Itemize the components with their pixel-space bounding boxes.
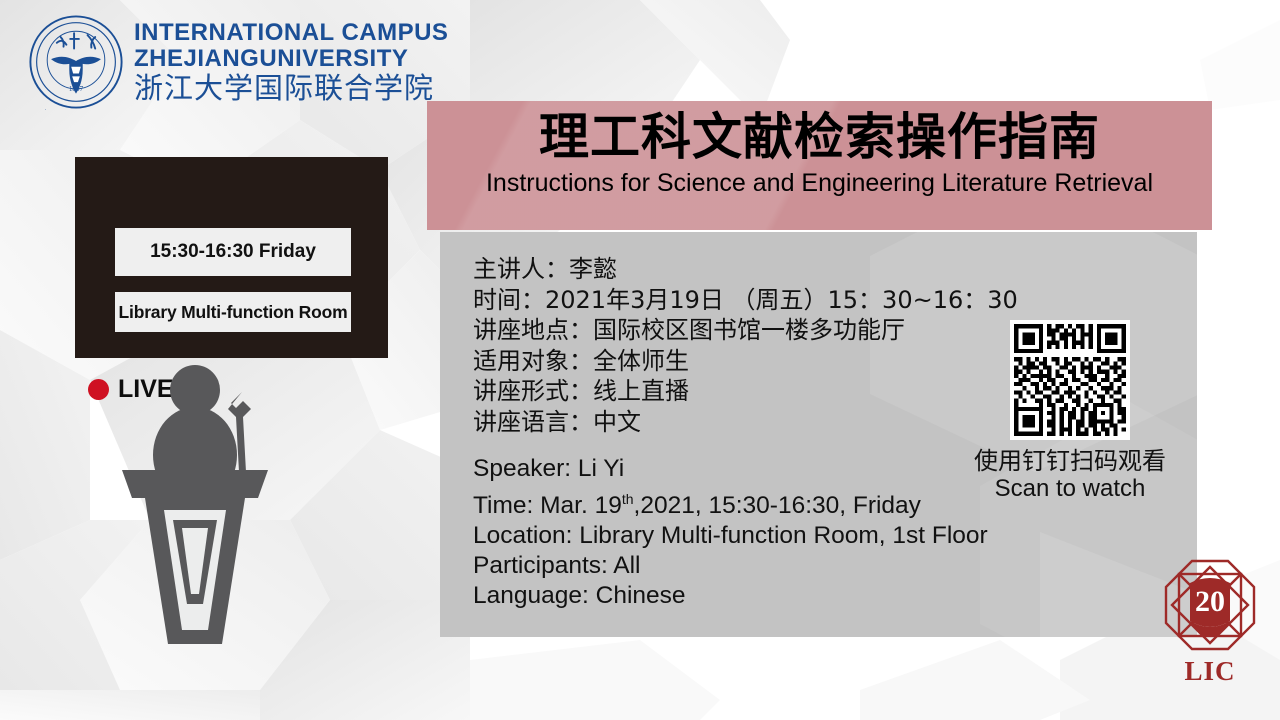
- detail-en-language: Language: Chinese: [473, 581, 988, 611]
- detail-cn-format: 讲座形式：线上直播: [473, 376, 1018, 407]
- room-tag: Library Multi-function Room: [115, 292, 351, 332]
- details-chinese-list: 主讲人：李懿 时间：2021年3月19日 （周五）15：30~16：30 讲座地…: [473, 254, 1018, 437]
- logo-line-zhejiang-university: ZHEJIANG UNIVERSITY: [134, 47, 377, 71]
- detail-cn-language: 讲座语言：中文: [473, 407, 1018, 438]
- logo-wordmark: INTERNATIONAL CAMPUS ZHEJIANG UNIVERSITY…: [134, 21, 448, 103]
- detail-en-time-ordinal: th: [622, 491, 634, 507]
- title-banner: 理工科文献检索操作指南 Instructions for Science and…: [427, 101, 1212, 230]
- qr-caption-english: Scan to watch: [930, 475, 1210, 503]
- title-english: Instructions for Science and Engineering…: [427, 169, 1212, 198]
- details-english-list: Speaker: Li Yi Time: Mar. 19th,2021, 15:…: [473, 454, 988, 611]
- zhejiang-university-seal-icon: 1897 ZHEJIANG UNIVERSITY: [28, 14, 124, 110]
- detail-en-participants: Participants: All: [473, 551, 988, 581]
- qr-caption-chinese: 使用钉钉扫码观看: [930, 447, 1210, 475]
- detail-en-time: Time: Mar. 19th,2021, 15:30-16:30, Frida…: [473, 484, 988, 521]
- detail-en-speaker: Speaker: Li Yi: [473, 454, 988, 484]
- detail-cn-time: 时间：2021年3月19日 （周五）15：30~16：30: [473, 285, 1018, 316]
- detail-en-time-head: Time: Mar. 19: [473, 492, 622, 519]
- logo-line-international-campus: INTERNATIONAL CAMPUS: [134, 21, 448, 45]
- seal-ring-text: ZHEJIANG UNIVERSITY: [39, 109, 113, 110]
- logo-word-zhejiang: ZHEJIANG: [134, 47, 259, 71]
- detail-en-location: Location: Library Multi-function Room, 1…: [473, 521, 988, 551]
- logo-word-university: UNIVERSITY: [259, 47, 408, 71]
- lic-label: LIC: [1155, 656, 1265, 687]
- live-dot-icon: [88, 379, 109, 400]
- lic-anniversary-number: 20: [1195, 585, 1225, 618]
- detail-cn-participants: 适用对象：全体师生: [473, 346, 1018, 377]
- poster-root: 1897 ZHEJIANG UNIVERSITY INTERNATIONAL C…: [0, 0, 1280, 720]
- university-logo-lockup: 1897 ZHEJIANG UNIVERSITY INTERNATIONAL C…: [28, 14, 448, 110]
- logo-line-chinese: 浙江大学国际联合学院: [134, 74, 448, 103]
- qr-caption: 使用钉钉扫码观看 Scan to watch: [930, 447, 1210, 503]
- qr-code-image[interactable]: [1010, 320, 1130, 440]
- detail-en-time-tail: ,2021, 15:30-16:30, Friday: [634, 492, 921, 519]
- qr-code-block[interactable]: [1010, 320, 1130, 440]
- qr-code-svg: [1010, 320, 1130, 440]
- lic-logo: 20 LIC: [1155, 555, 1265, 687]
- seal-year: 1897: [69, 85, 84, 93]
- podium-icon: [110, 362, 310, 662]
- svg-text:ZHEJIANG UNIVERSITY: ZHEJIANG UNIVERSITY: [39, 109, 113, 110]
- detail-cn-location: 讲座地点：国际校区图书馆一楼多功能厅: [473, 315, 1018, 346]
- lic-emblem-icon: 20: [1160, 555, 1260, 655]
- podium-speaker-illustration: [110, 362, 310, 667]
- time-tag: 15:30-16:30 Friday: [115, 228, 351, 276]
- title-chinese: 理工科文献检索操作指南: [427, 111, 1212, 164]
- detail-cn-speaker: 主讲人：李懿: [473, 254, 1018, 285]
